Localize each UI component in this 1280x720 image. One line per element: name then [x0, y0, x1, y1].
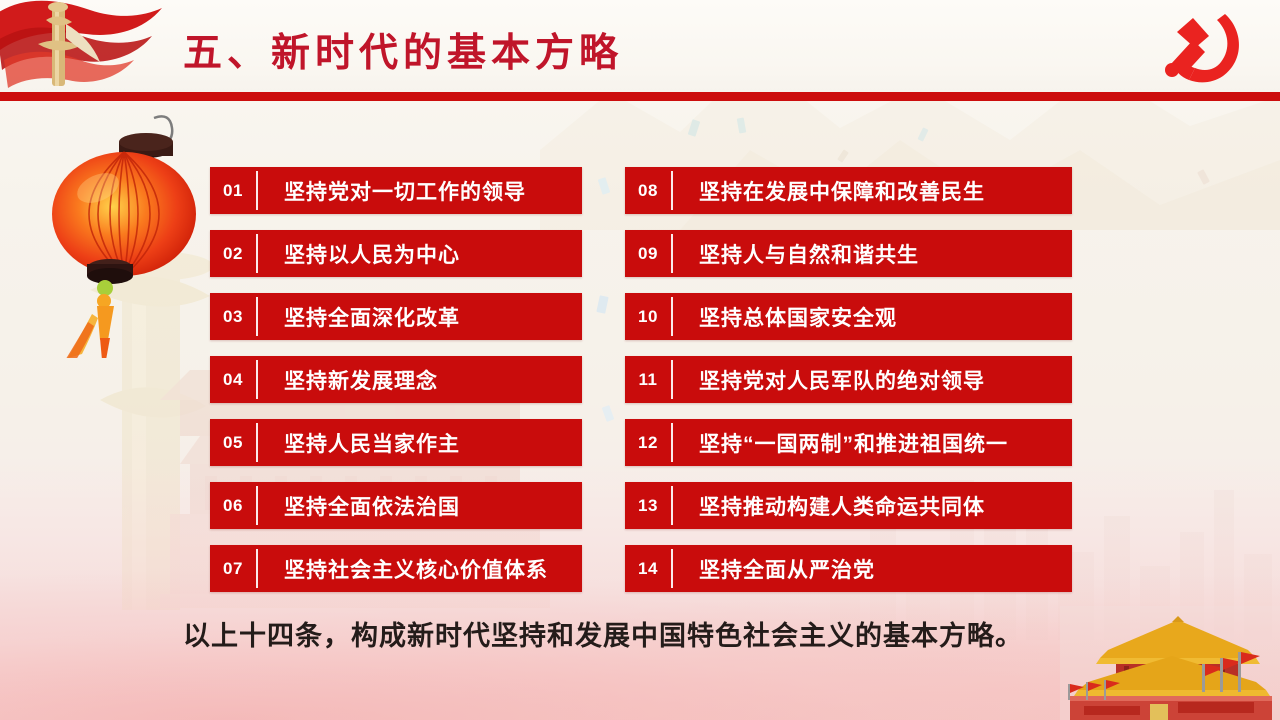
list-item[interactable]: 02 坚持以人民为中心 [210, 230, 582, 277]
list-item[interactable]: 12 坚持“一国两制”和推进祖国统一 [625, 419, 1072, 466]
list-item-label: 坚持人与自然和谐共生 [673, 230, 1072, 277]
list-item-label: 坚持全面深化改革 [258, 293, 582, 340]
list-item[interactable]: 05 坚持人民当家作主 [210, 419, 582, 466]
list-item-number: 02 [210, 230, 256, 277]
strategy-list-right-column: 08 坚持在发展中保障和改善民生 09 坚持人与自然和谐共生 10 坚持总体国家… [625, 167, 1072, 608]
list-item[interactable]: 06 坚持全面依法治国 [210, 482, 582, 529]
list-item[interactable]: 13 坚持推动构建人类命运共同体 [625, 482, 1072, 529]
list-item[interactable]: 08 坚持在发展中保障和改善民生 [625, 167, 1072, 214]
list-item-number: 14 [625, 545, 671, 592]
list-item-label: 坚持党对一切工作的领导 [258, 167, 582, 214]
list-item-label: 坚持推动构建人类命运共同体 [673, 482, 1072, 529]
list-item-label: 坚持总体国家安全观 [673, 293, 1072, 340]
list-item[interactable]: 01 坚持党对一切工作的领导 [210, 167, 582, 214]
list-item-label: 坚持人民当家作主 [258, 419, 582, 466]
summary-caption: 以上十四条，构成新时代坚持和发展中国特色社会主义的基本方略。 [183, 614, 1083, 653]
list-item-label: 坚持全面从严治党 [673, 545, 1072, 592]
list-item-label: 坚持全面依法治国 [258, 482, 582, 529]
list-item-number: 09 [625, 230, 671, 277]
list-item-label: 坚持在发展中保障和改善民生 [673, 167, 1072, 214]
list-item[interactable]: 09 坚持人与自然和谐共生 [625, 230, 1072, 277]
list-item-label: 坚持“一国两制”和推进祖国统一 [673, 419, 1072, 466]
presentation-slide: 五、新时代的基本方略 [0, 0, 1280, 720]
list-item[interactable]: 14 坚持全面从严治党 [625, 545, 1072, 592]
list-item[interactable]: 07 坚持社会主义核心价值体系 [210, 545, 582, 592]
list-item-label: 坚持以人民为中心 [258, 230, 582, 277]
tiananmen-gate-icon [1060, 606, 1280, 720]
strategy-list-left-column: 01 坚持党对一切工作的领导 02 坚持以人民为中心 03 坚持全面深化改革 0… [210, 167, 582, 608]
list-item-number: 05 [210, 419, 256, 466]
list-item[interactable]: 04 坚持新发展理念 [210, 356, 582, 403]
list-item-number: 13 [625, 482, 671, 529]
list-item-number: 06 [210, 482, 256, 529]
list-item-label: 坚持党对人民军队的绝对领导 [673, 356, 1072, 403]
list-item-number: 07 [210, 545, 256, 592]
list-item[interactable]: 11 坚持党对人民军队的绝对领导 [625, 356, 1072, 403]
list-item-number: 03 [210, 293, 256, 340]
list-item-number: 10 [625, 293, 671, 340]
list-item-label: 坚持社会主义核心价值体系 [258, 545, 582, 592]
list-item-label: 坚持新发展理念 [258, 356, 582, 403]
list-item-number: 08 [625, 167, 671, 214]
list-item-number: 11 [625, 356, 671, 403]
list-item-number: 01 [210, 167, 256, 214]
list-item[interactable]: 10 坚持总体国家安全观 [625, 293, 1072, 340]
list-item[interactable]: 03 坚持全面深化改革 [210, 293, 582, 340]
list-item-number: 12 [625, 419, 671, 466]
list-item-number: 04 [210, 356, 256, 403]
